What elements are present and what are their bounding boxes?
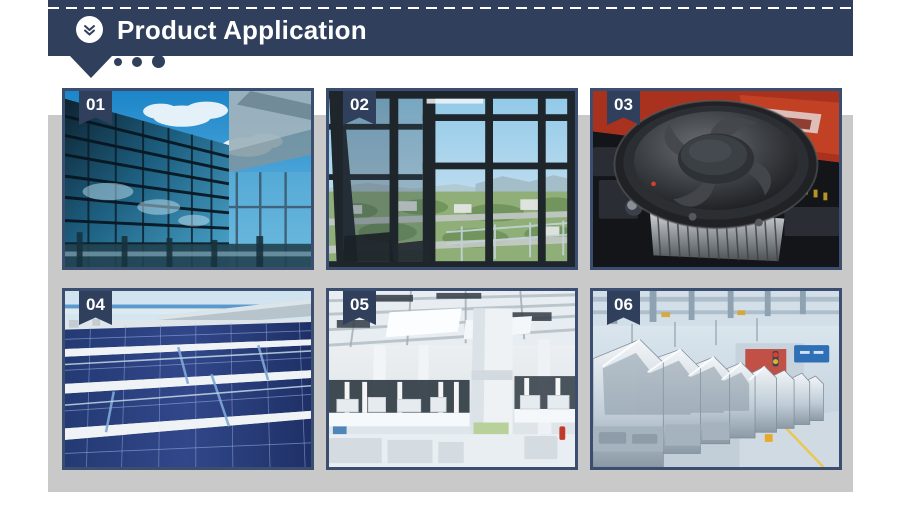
gallery-row: 04 xyxy=(62,288,853,470)
dot-large-icon xyxy=(152,55,165,68)
dot-medium-icon xyxy=(132,57,142,67)
application-card[interactable]: 01 xyxy=(62,88,314,270)
page-title: Product Application xyxy=(117,17,367,43)
header-triangle-pointer xyxy=(70,56,112,78)
section-header-bar: Product Application xyxy=(48,0,853,56)
application-card[interactable]: 04 xyxy=(62,288,314,470)
dot-small-icon xyxy=(114,58,122,66)
application-card[interactable]: 03 xyxy=(590,88,842,270)
application-card[interactable]: 02 xyxy=(326,88,578,270)
product-application-section: Product Application xyxy=(0,0,900,520)
gallery-row: 01 xyxy=(62,88,853,270)
double-chevron-down-icon xyxy=(76,16,103,43)
header-dot-group xyxy=(114,55,165,68)
application-image-grid: 01 xyxy=(62,88,853,484)
header-content: Product Application xyxy=(76,0,367,56)
application-card[interactable]: 05 xyxy=(326,288,578,470)
application-card[interactable]: 06 xyxy=(590,288,842,470)
